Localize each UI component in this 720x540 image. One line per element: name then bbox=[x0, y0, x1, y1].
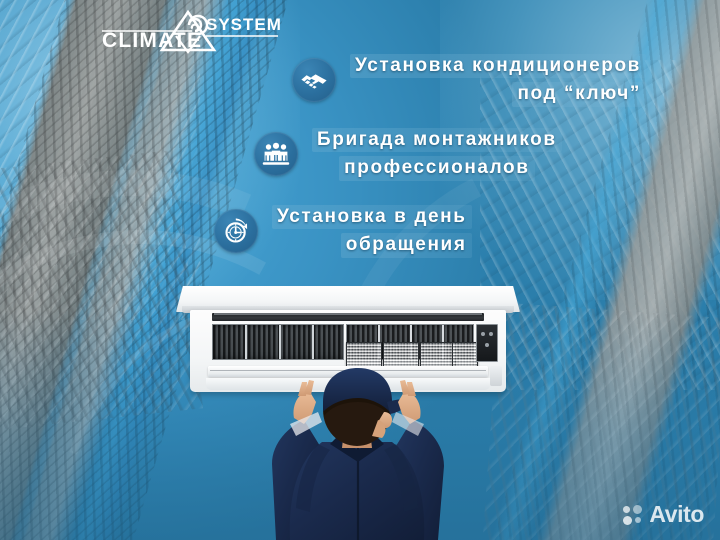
handshake-icon bbox=[292, 58, 336, 102]
promo-banner: CLIMATE SYSTEMS bbox=[0, 0, 720, 540]
logo-word-climate: CLIMATE bbox=[102, 29, 202, 52]
feature-text: Установка в день обращения bbox=[272, 205, 472, 258]
feature-item-professional-crew: Бригада монтажников профессионалов bbox=[254, 128, 562, 181]
brand-logo: CLIMATE SYSTEMS bbox=[100, 6, 280, 62]
ac-control-panel bbox=[476, 324, 498, 362]
ac-evaporator-coil-left bbox=[212, 324, 344, 360]
feature-item-turnkey-installation: Установка кондиционеров под “ключ” bbox=[292, 54, 646, 107]
technician-figure bbox=[232, 368, 482, 540]
ac-filter-panel bbox=[383, 342, 419, 368]
feature-line-2: профессионалов bbox=[339, 156, 534, 180]
feature-line-2: обращения bbox=[341, 233, 472, 257]
avito-watermark: Avito bbox=[623, 503, 704, 526]
feature-line-1: Установка кондиционеров bbox=[350, 54, 646, 78]
clock-arrow-icon bbox=[214, 209, 258, 253]
feature-line-1: Установка в день bbox=[272, 205, 472, 229]
logo-word-systems: SYSTEMS bbox=[206, 15, 280, 34]
ac-filter-panel bbox=[420, 342, 456, 368]
ac-side-vent bbox=[490, 366, 502, 386]
three-people-icon bbox=[254, 132, 298, 176]
avito-dots-icon bbox=[623, 505, 643, 525]
feature-line-1: Бригада монтажников bbox=[312, 128, 562, 152]
avito-label: Avito bbox=[649, 503, 704, 526]
feature-text: Установка кондиционеров под “ключ” bbox=[350, 54, 646, 107]
feature-item-same-day-installation: Установка в день обращения bbox=[214, 205, 472, 258]
feature-text: Бригада монтажников профессионалов bbox=[312, 128, 562, 181]
ac-filter-panel bbox=[346, 342, 382, 368]
ac-slot-highlight bbox=[214, 313, 482, 315]
feature-line-2: под “ключ” bbox=[512, 82, 646, 106]
ac-filter-panel bbox=[452, 342, 478, 368]
